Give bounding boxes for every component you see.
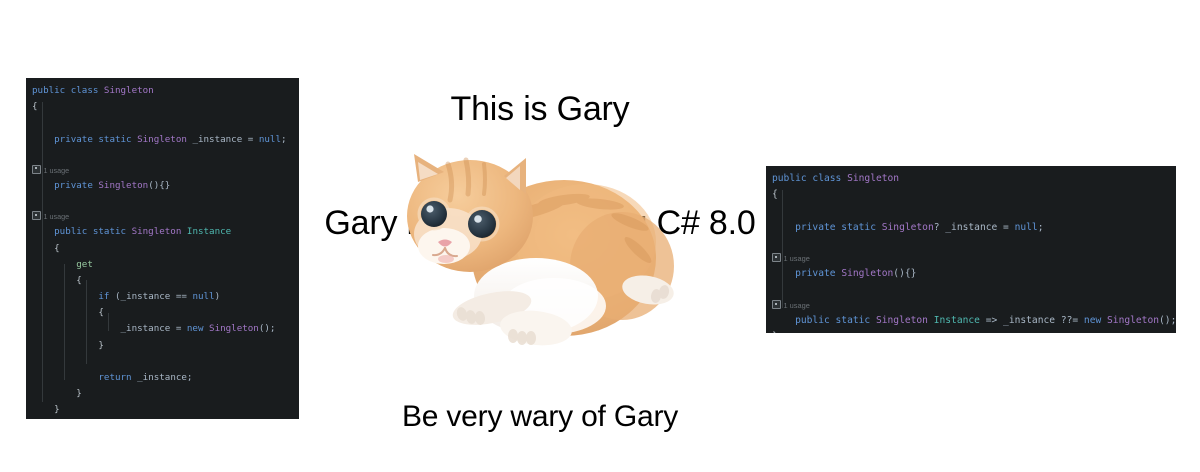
code-token: } <box>32 340 104 351</box>
code-token: private <box>32 180 98 191</box>
code-token: { <box>32 243 60 254</box>
code-token: _instance = <box>32 323 187 334</box>
code-usage-hint[interactable]: 1 usage <box>26 164 299 178</box>
code-token: (); <box>259 323 276 334</box>
code-token: return <box>98 372 137 383</box>
code-line: public class Singleton <box>26 83 299 99</box>
code-token: null <box>259 134 281 145</box>
code-line <box>26 354 299 370</box>
code-line <box>766 236 1176 252</box>
code-token: _instance <box>187 134 248 145</box>
code-line <box>26 194 299 210</box>
code-usage-hint[interactable]: 1 usage <box>766 252 1176 266</box>
usage-square-icon <box>772 253 781 262</box>
code-line: if (_instance == null) <box>26 289 299 305</box>
code-token: { <box>772 189 778 200</box>
code-token: Singleton <box>104 85 154 96</box>
code-token: } <box>32 404 60 415</box>
code-token <box>32 372 98 383</box>
code-line <box>26 148 299 164</box>
code-token: Singleton <box>209 323 259 334</box>
code-line: get <box>26 257 299 273</box>
code-token: Singleton <box>841 268 893 279</box>
code-line: private static Singleton? _instance = nu… <box>766 220 1176 236</box>
code-line: private Singleton(){} <box>26 178 299 194</box>
code-line: } <box>766 329 1176 333</box>
code-token: ; <box>1038 222 1044 233</box>
code-block-csharp8-singleton: public class Singleton{ private static S… <box>766 166 1176 333</box>
meme-top-caption-line-1: This is Gary <box>310 90 770 128</box>
code-lines-csharp8: public class Singleton{ private static S… <box>766 171 1176 333</box>
code-token: private <box>772 268 841 279</box>
code-line: { <box>766 187 1176 203</box>
code-token: public class <box>32 85 104 96</box>
code-usage-hint[interactable]: 1 usage <box>766 299 1176 313</box>
code-token: Singleton <box>137 134 187 145</box>
code-token: Singleton <box>882 222 934 233</box>
usage-square-icon <box>772 300 781 309</box>
code-token: Instance <box>934 315 980 326</box>
code-token: public class <box>772 173 847 184</box>
code-token <box>32 291 98 302</box>
code-token: (); <box>1159 315 1176 326</box>
code-line <box>766 283 1176 299</box>
code-usage-label: 1 usage <box>44 212 70 221</box>
code-token: ) <box>215 291 221 302</box>
code-line: public static Singleton Instance <box>26 224 299 240</box>
code-line: return _instance; <box>26 370 299 386</box>
code-token: Singleton <box>847 173 899 184</box>
code-line: public class Singleton <box>766 171 1176 187</box>
usage-square-icon <box>32 211 41 220</box>
code-block-classic-singleton: public class Singleton{ private static S… <box>26 78 299 419</box>
code-line: { <box>26 273 299 289</box>
code-token: = <box>1003 222 1015 233</box>
code-token: null <box>192 291 214 302</box>
code-line: _instance = new Singleton(); <box>26 321 299 337</box>
code-token: ? _instance <box>934 222 1003 233</box>
code-token: (_instance == <box>115 291 192 302</box>
code-line: public static Singleton Instance => _ins… <box>766 313 1176 329</box>
code-token: private static <box>772 222 882 233</box>
code-line: private static Singleton _instance = nul… <box>26 132 299 148</box>
usage-square-icon <box>32 165 41 174</box>
code-token: Singleton <box>98 180 148 191</box>
code-token: (){} <box>893 268 916 279</box>
code-token: public static <box>32 226 132 237</box>
code-token: Singleton <box>1107 315 1159 326</box>
meme-bottom-caption: Be very wary of Gary <box>310 400 770 434</box>
code-token: = <box>248 134 259 145</box>
code-token: Singleton <box>876 315 928 326</box>
code-token: if <box>98 291 115 302</box>
code-line: } <box>26 338 299 354</box>
code-line: } <box>26 386 299 402</box>
kitten-image <box>386 138 686 360</box>
code-token: new <box>187 323 209 334</box>
code-token: } <box>772 331 778 333</box>
code-usage-label: 1 usage <box>44 166 70 175</box>
code-token: get <box>32 259 93 270</box>
code-usage-label: 1 usage <box>784 301 810 310</box>
code-token: null <box>1015 222 1038 233</box>
code-token: new <box>1084 315 1107 326</box>
code-line: } <box>26 402 299 418</box>
code-usage-label: 1 usage <box>784 254 810 263</box>
code-token: (){} <box>148 180 170 191</box>
code-token: Singleton <box>132 226 182 237</box>
code-token: private static <box>32 134 137 145</box>
code-lines-classic: public class Singleton{ private static S… <box>26 83 299 419</box>
code-token: Instance <box>187 226 231 237</box>
code-token: ; <box>281 134 287 145</box>
code-usage-hint[interactable]: 1 usage <box>26 210 299 224</box>
code-line <box>766 204 1176 220</box>
code-token: } <box>32 388 82 399</box>
code-token: { <box>32 101 38 112</box>
code-token: => _instance ??= <box>980 315 1084 326</box>
code-token: _instance; <box>137 372 192 383</box>
code-line <box>26 115 299 131</box>
code-token: public static <box>772 315 876 326</box>
code-line: { <box>26 241 299 257</box>
code-line: { <box>26 305 299 321</box>
code-token: { <box>32 275 82 286</box>
code-line: { <box>26 99 299 115</box>
code-token: { <box>32 307 104 318</box>
code-line: private Singleton(){} <box>766 266 1176 282</box>
